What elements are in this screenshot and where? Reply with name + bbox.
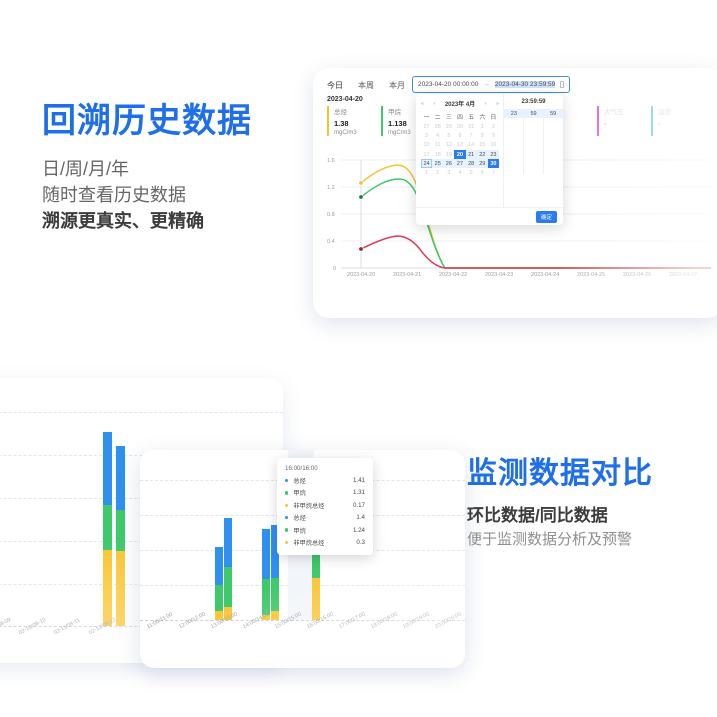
tooltip-title: 16:00/16:00 — [285, 465, 365, 472]
svg-text:1.2: 1.2 — [327, 185, 335, 191]
date-range-separator: → — [483, 81, 490, 88]
svg-text:0.4: 0.4 — [327, 239, 335, 245]
top-line-3: 溯源更真实、更精确 — [42, 208, 252, 234]
selected-date-stamp: 2023-04-20 — [327, 96, 363, 103]
metric-title: 总烃 — [334, 106, 381, 116]
calendar-day[interactable]: 5 — [443, 131, 454, 140]
tooltip-series-value: 0.3 — [356, 539, 365, 546]
calendar-week-row: 10 11 12 13 14 15 16 — [421, 141, 499, 150]
tooltip-series-value: 1.24 — [353, 527, 365, 534]
calendar-day[interactable]: 21 — [466, 150, 477, 159]
time-second-option[interactable]: 59 — [543, 109, 563, 118]
tooltip-series-value: 1.31 — [353, 489, 365, 496]
stacked-bar[interactable] — [116, 446, 125, 626]
calendar-title: 2023年 4月 — [445, 99, 475, 108]
top-text-block: 回溯历史数据 日/周/月/年 随时查看历史数据 溯源更真实、更精确 — [42, 100, 252, 234]
time-panel[interactable]: 23:59:59 23 59 59 — [504, 94, 563, 207]
metric-title: 湿度 — [658, 106, 705, 116]
stacked-bar[interactable] — [224, 518, 232, 620]
weekday-header-row: 一 二 三 四 五 六 日 — [421, 111, 499, 122]
promo-page: 回溯历史数据 日/周/月/年 随时查看历史数据 溯源更真实、更精确 今日 本周 … — [0, 0, 717, 717]
calendar-day[interactable]: 28 — [466, 159, 477, 168]
time-selected-row[interactable]: 23 59 59 — [504, 109, 563, 118]
calendar-day[interactable]: 28 — [432, 122, 443, 131]
calendar-day[interactable]: 27 — [421, 122, 432, 131]
history-dashboard-card: 今日 本周 本月 全年 2023-04-20 00:00:00 → 2023-0… — [313, 68, 717, 318]
time-title: 23:59:59 — [504, 99, 563, 105]
next-year-button[interactable]: » — [496, 101, 499, 107]
weekday-label: 六 — [477, 111, 488, 122]
tooltip-series-name: 甲烷 — [293, 488, 305, 497]
prev-month-button[interactable]: ‹ — [434, 101, 436, 107]
calendar-day[interactable]: 2 — [432, 168, 443, 177]
weekday-label: 四 — [454, 111, 465, 122]
calendar-day[interactable]: 25 — [432, 159, 443, 168]
legend-dot-methane — [285, 528, 288, 531]
time-columns[interactable] — [504, 118, 563, 174]
calendar-icon[interactable] — [560, 81, 564, 88]
weekday-label: 五 — [466, 111, 477, 122]
tooltip-series-name: 总烃 — [293, 513, 305, 522]
legend-dot-total-hc — [285, 479, 288, 482]
date-range-picker-popover[interactable]: « ‹ 2023年 4月 › » 一 二 三 四 五 六 — [416, 94, 563, 225]
weekday-label: 日 — [488, 111, 499, 122]
legend-dot-nmhc — [285, 541, 288, 544]
x-tick-label: 2023-04-23 — [485, 272, 513, 278]
bottom-headline: 监测数据对比 — [467, 455, 653, 493]
calendar-day[interactable]: 22 — [477, 150, 488, 159]
calendar-day[interactable]: 4 — [432, 131, 443, 140]
tooltip-series-value: 1.41 — [353, 477, 365, 484]
stacked-bar[interactable] — [103, 432, 112, 626]
y-axis-ticks: 1.6 1.2 0.8 0.4 0 — [327, 158, 336, 272]
legend-dot-total-hc — [285, 516, 288, 519]
calendar-day[interactable]: 9 — [488, 131, 499, 140]
stacked-bar[interactable] — [312, 549, 320, 620]
tooltip-series-name: 甲烷 — [293, 526, 305, 535]
tooltip-series-value: 0.17 — [353, 502, 365, 509]
metric-value: - — [658, 119, 705, 128]
calendar-day[interactable]: 31 — [466, 122, 477, 131]
calendar-day[interactable]: 5 — [466, 168, 477, 177]
tooltip-row: 总烃 1.41 — [285, 476, 365, 485]
calendar-day[interactable]: 4 — [454, 168, 465, 177]
calendar-day[interactable]: 29 — [477, 159, 488, 168]
calendar-day[interactable]: 7 — [466, 131, 477, 140]
metric-unit: - — [604, 130, 651, 136]
calendar-panel[interactable]: « ‹ 2023年 4月 › » 一 二 三 四 五 六 — [416, 94, 504, 207]
calendar-day-range-end[interactable]: 30 — [488, 159, 499, 168]
calendar-day[interactable]: 27 — [454, 159, 465, 168]
metric-value: 1.38 — [334, 119, 381, 128]
time-second-column[interactable] — [544, 118, 563, 174]
tooltip-row: 甲烷 1.31 — [285, 488, 365, 497]
top-line-2: 随时查看历史数据 — [42, 182, 252, 208]
calendar-grid[interactable]: 一 二 三 四 五 六 日 27 28 29 30 — [421, 111, 499, 178]
tab-this-week[interactable]: 本周 — [358, 80, 374, 91]
series-point-methane — [359, 195, 364, 200]
time-hour-column[interactable] — [504, 118, 524, 174]
metric-unit: mgC/m3 — [334, 130, 381, 136]
date-range-input[interactable]: 2023-04-20 00:00:00 → 2023-04-30 23:59:5… — [412, 76, 570, 93]
metric-unit: - — [658, 130, 705, 136]
calendar-day[interactable]: 11 — [432, 141, 443, 150]
x-tick-label: 2023-04-27 — [669, 272, 697, 278]
tab-this-month[interactable]: 本月 — [389, 80, 405, 91]
calendar-header: « ‹ 2023年 4月 › » — [421, 99, 499, 108]
calendar-day[interactable]: 17 — [421, 150, 432, 159]
prev-year-button[interactable]: « — [421, 101, 424, 107]
time-minute-column[interactable] — [524, 118, 544, 174]
calendar-week-row: 17 18 19 20 21 22 23 — [421, 150, 499, 159]
calendar-day[interactable]: 23 — [488, 150, 499, 159]
calendar-day[interactable]: 2 — [488, 122, 499, 131]
weekday-label: 三 — [443, 111, 454, 122]
calendar-day[interactable]: 7 — [488, 168, 499, 177]
calendar-day[interactable]: 8 — [477, 131, 488, 140]
metric-card: 总烃 1.38 mgC/m3 — [327, 106, 381, 136]
x-tick-label: 2023-04-22 — [439, 272, 467, 278]
legend-dot-nmhc — [285, 504, 288, 507]
stacked-bar[interactable] — [215, 547, 223, 620]
calendar-day[interactable]: 18 — [432, 150, 443, 159]
tooltip-series-value: 1.4 — [356, 514, 365, 521]
tooltip-series-name: 非甲烷总烃 — [293, 501, 324, 510]
x-tick-label: 2023-04-24 — [531, 272, 559, 278]
calendar-week-row: 3 4 5 6 7 8 9 — [421, 131, 499, 140]
calendar-week-row: 24 25 26 27 28 29 30 — [421, 159, 499, 168]
x-tick-label: 2023-04-25 — [577, 272, 605, 278]
x-tick-label: 2023-04-20 — [347, 272, 375, 278]
calendar-day[interactable]: 6 — [477, 168, 488, 177]
calendar-day[interactable]: 6 — [454, 131, 465, 140]
calendar-day[interactable]: 29 — [443, 122, 454, 131]
calendar-week-row: 27 28 29 30 31 1 2 — [421, 122, 499, 131]
time-minute-option[interactable]: 59 — [524, 109, 544, 118]
svg-text:0: 0 — [333, 266, 336, 272]
legend-dot-methane — [285, 491, 288, 494]
calendar-day[interactable]: 1 — [421, 168, 432, 177]
calendar-day[interactable]: 30 — [454, 122, 465, 131]
series-point-nmhc — [359, 247, 364, 252]
calendar-day[interactable]: 16 — [488, 141, 499, 150]
weekday-label: 二 — [432, 111, 443, 122]
calendar-day[interactable]: 13 — [454, 141, 465, 150]
calendar-week-row: 1 2 3 4 5 6 7 — [421, 168, 499, 177]
x-tick-label: 2023-04-21 — [393, 272, 421, 278]
tooltip-row: 总烃 1.4 — [285, 513, 365, 522]
svg-text:0.8: 0.8 — [327, 212, 335, 218]
time-hour-option[interactable]: 23 — [504, 109, 524, 118]
calendar-day[interactable]: 26 — [443, 159, 454, 168]
top-headline: 回溯历史数据 — [42, 100, 252, 142]
tooltip-row: 非甲烷总烃 0.17 — [285, 501, 365, 510]
calendar-day[interactable]: 1 — [477, 122, 488, 131]
calendar-day-today[interactable]: 24 — [421, 159, 432, 168]
weekday-label: 一 — [421, 111, 432, 122]
calendar-day[interactable]: 12 — [443, 141, 454, 150]
bottom-line-2: 便于监测数据分析及预警 — [467, 528, 653, 551]
tooltip-series-name: 总烃 — [293, 476, 305, 485]
calendar-day[interactable]: 3 — [443, 168, 454, 177]
x-tick-label: 2023-04-26 — [623, 272, 651, 278]
series-point-total-hc — [359, 181, 364, 186]
metric-card: 大气压 - - — [597, 106, 651, 136]
bottom-text-block: 监测数据对比 环比数据/同比数据 便于监测数据分析及预警 — [467, 455, 653, 551]
svg-text:1.6: 1.6 — [327, 158, 335, 164]
picker-footer: 确定 — [416, 207, 563, 225]
calendar-day-range-start[interactable]: 20 — [454, 150, 465, 159]
tab-today[interactable]: 今日 — [327, 80, 343, 91]
calendar-day[interactable]: 3 — [421, 131, 432, 140]
metric-card: 湿度 - - — [651, 106, 705, 136]
bottom-line-1: 环比数据/同比数据 — [467, 503, 653, 528]
tooltip-row: 非甲烷总烃 0.3 — [285, 538, 365, 547]
top-line-1: 日/周/月/年 — [42, 156, 252, 182]
metric-title: 大气压 — [604, 106, 651, 116]
stacked-bar[interactable] — [262, 529, 270, 620]
metric-value: - — [604, 119, 651, 128]
calendar-day[interactable]: 14 — [466, 141, 477, 150]
calendar-day[interactable]: 19 — [443, 150, 454, 159]
next-month-button[interactable]: › — [485, 101, 487, 107]
calendar-day[interactable]: 10 — [421, 141, 432, 150]
confirm-button[interactable]: 确定 — [536, 211, 557, 223]
tooltip-series-name: 非甲烷总烃 — [293, 538, 324, 547]
date-range-start[interactable]: 2023-04-20 00:00:00 — [418, 81, 478, 88]
calendar-day[interactable]: 15 — [477, 141, 488, 150]
chart-tooltip: 16:00/16:00 总烃 1.41 甲烷 1.31 非甲烷总烃 0.17 总… — [277, 458, 373, 555]
date-range-end[interactable]: 2023-04-30 23:59:59 — [495, 81, 555, 88]
tooltip-row: 甲烷 1.24 — [285, 526, 365, 535]
